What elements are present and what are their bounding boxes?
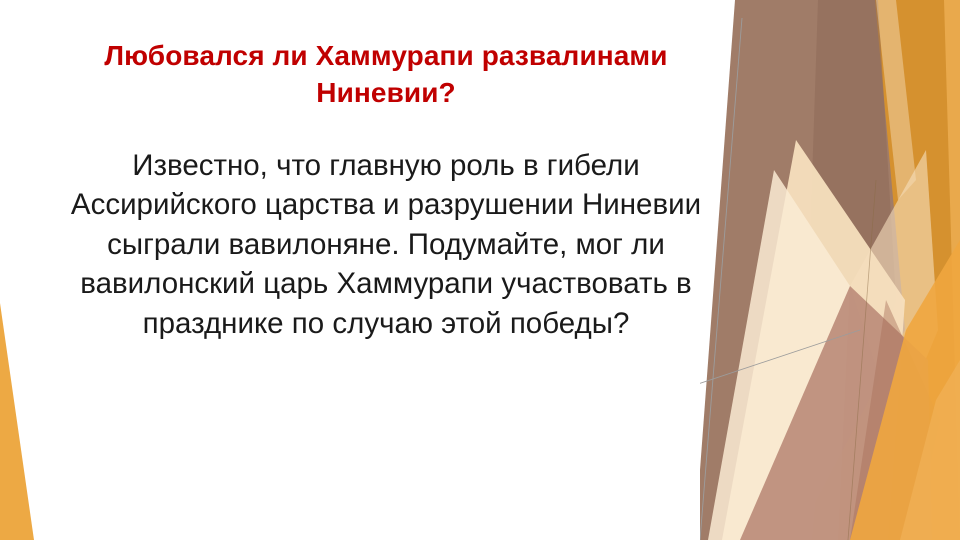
shape-cream-band-upper — [850, 150, 938, 430]
hairline-orange-column-edge — [848, 180, 876, 540]
shape-rose-brown-lower-sweep — [740, 286, 932, 540]
shape-cream-sheet-secondary — [708, 170, 850, 540]
shape-brown-main-wedge — [700, 0, 905, 540]
shape-cream-sheet-lower — [722, 140, 905, 540]
shape-rose-brown-triangle — [850, 300, 940, 540]
shape-cream-sliver-top — [876, 0, 916, 200]
body-line-4: вавилонский царь Хаммурапи участвовать в — [56, 264, 716, 304]
shape-brown-dark-core — [808, 0, 896, 420]
shape-orange-dark-column — [812, 0, 960, 540]
decoration-right-angled-polygon-band — [700, 0, 960, 540]
shape-orange-highlight-bottom — [900, 360, 960, 540]
body-line-3: сыграли вавилоняне. Подумайте, мог ли — [56, 225, 716, 265]
body-line-2: Ассирийского царства и разрушении Ниневи… — [56, 185, 716, 225]
body-line-5: празднике по случаю этой победы? — [56, 304, 716, 344]
shape-orange-overlay-bottom — [850, 240, 960, 540]
slide-body-text: Известно, что главную роль в гибели Асси… — [56, 112, 716, 344]
slide-canvas: Любовался ли Хаммурапи развалинами Нинев… — [0, 0, 960, 540]
hairline-shallow-diagonal — [700, 330, 860, 470]
shape-orange-wedge-bottom-left — [0, 303, 34, 540]
body-line-1: Известно, что главную роль в гибели — [56, 146, 716, 186]
shape-orange-light-far-right — [905, 0, 960, 540]
slide-text-block: Любовался ли Хаммурапи развалинами Нинев… — [56, 38, 716, 343]
slide-title: Любовался ли Хаммурапи развалинами Нинев… — [56, 38, 716, 112]
